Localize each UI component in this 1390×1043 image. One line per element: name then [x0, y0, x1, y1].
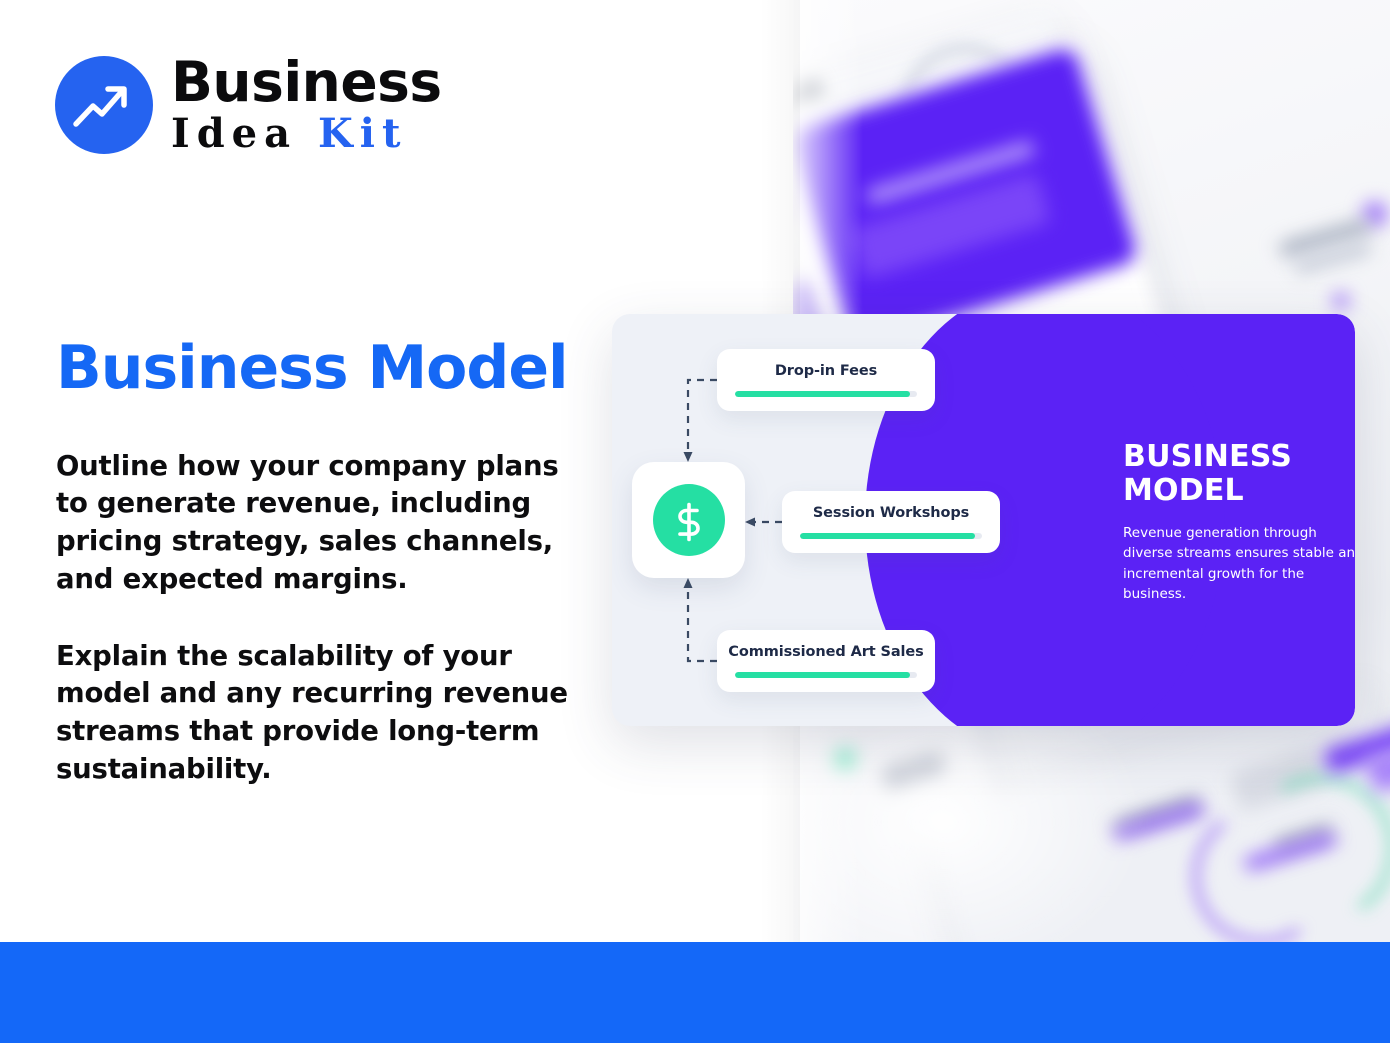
revenue-stream-progress-track: [800, 533, 982, 539]
brand-wordmark: Business Idea Kit: [171, 55, 442, 154]
growth-chart-arrow-icon: [55, 56, 153, 154]
brand-name-secondary: Idea Kit: [171, 114, 442, 154]
revenue-stream-progress-fill: [735, 391, 910, 397]
background-dot: [1333, 293, 1349, 309]
revenue-stream-card[interactable]: Session Workshops: [782, 491, 1000, 553]
revenue-stream-card[interactable]: Drop-in Fees: [717, 349, 935, 411]
revenue-stream-progress-fill: [800, 533, 975, 539]
business-model-diagram-card: Drop-in Fees Session Workshops Commissio…: [612, 314, 1355, 726]
brand-name-secondary-left: Idea: [171, 110, 318, 157]
brand-name-accent: Kit: [318, 110, 407, 157]
body-paragraph-2: Explain the scalability of your model an…: [56, 638, 586, 790]
body-paragraph-1: Outline how your company plans to genera…: [56, 448, 586, 600]
page-title: Business Model: [56, 337, 568, 400]
revenue-stream-progress-fill: [735, 672, 910, 678]
panel-title: BUSINESS MODEL: [1123, 440, 1355, 507]
revenue-stream-label: Session Workshops: [813, 505, 969, 521]
revenue-hub: [632, 462, 745, 578]
revenue-stream-progress-track: [735, 391, 917, 397]
slide-root: Business Idea Kit Business Model Outline…: [0, 0, 1390, 1043]
business-model-panel: BUSINESS MODEL Revenue generation throug…: [1045, 314, 1355, 726]
panel-content: BUSINESS MODEL Revenue generation throug…: [1123, 440, 1355, 604]
revenue-stream-progress-track: [735, 672, 917, 678]
footer-bar: [0, 942, 1390, 1043]
revenue-stream-card[interactable]: Commissioned Art Sales: [717, 630, 935, 692]
revenue-stream-label: Commissioned Art Sales: [728, 644, 923, 660]
brand-name-primary: Business: [171, 55, 442, 110]
panel-description: Revenue generation through diverse strea…: [1123, 523, 1355, 604]
dollar-sign-icon: [653, 484, 725, 556]
brand-logo: Business Idea Kit: [55, 55, 442, 154]
revenue-stream-label: Drop-in Fees: [775, 363, 877, 379]
